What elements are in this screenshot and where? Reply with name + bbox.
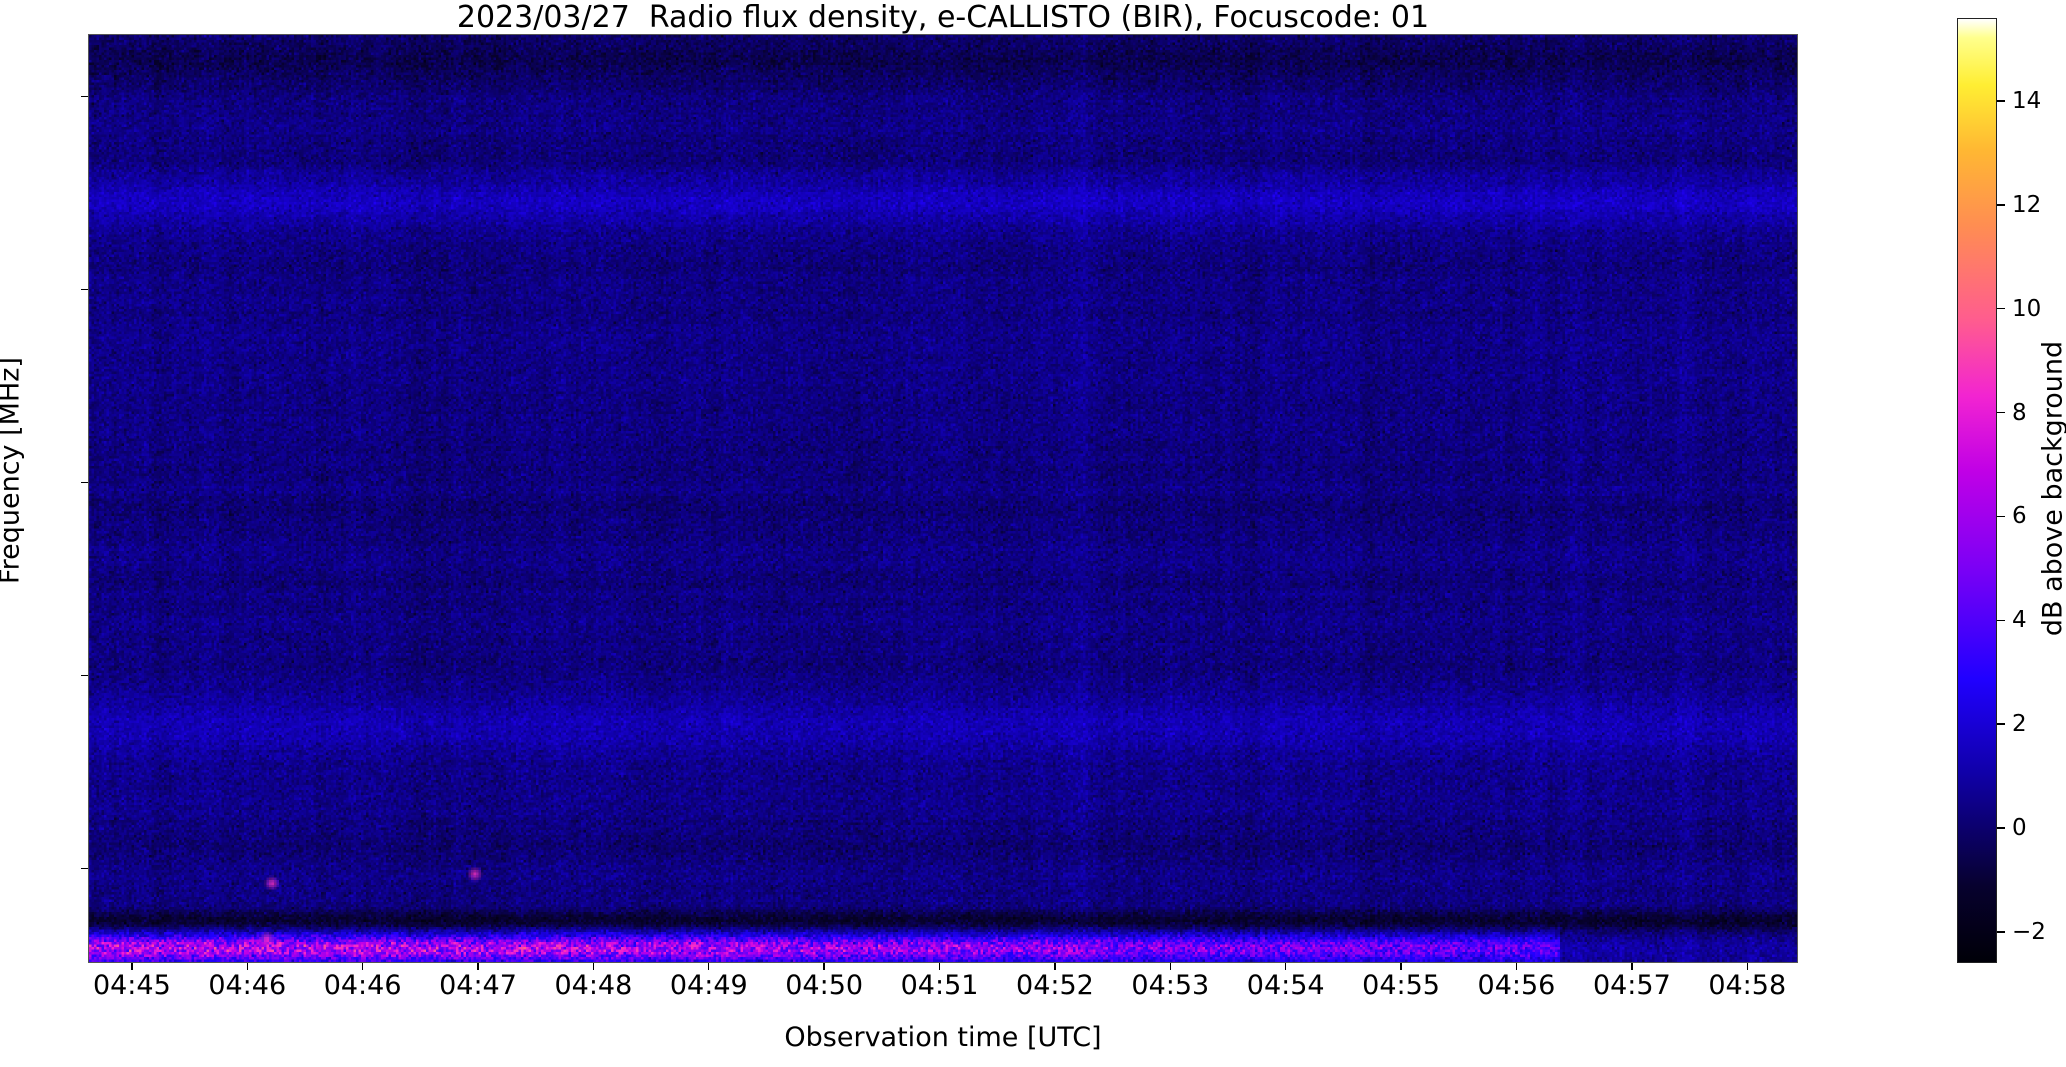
colorbar-tick-mark [1997,516,2005,517]
colorbar-tick-mark [1997,412,2005,413]
y-tick-mark [81,482,88,483]
colorbar-tick-mark [1997,308,2005,309]
x-tick-mark [823,963,824,970]
spectrogram-plot-area [88,34,1798,963]
colorbar [1957,18,1997,963]
x-tick-mark [1631,963,1632,970]
x-tick-mark [362,963,363,970]
x-tick-mark [1516,963,1517,970]
colorbar-tick-mark [1997,723,2005,724]
x-tick-mark [1285,963,1286,970]
x-tick-label: 04:58 [1667,972,1827,1000]
y-axis-label: Frequency [MHz] [0,121,26,821]
x-tick-mark [1747,963,1748,970]
spectrogram-image [89,35,1797,962]
x-tick-mark [131,963,132,970]
x-tick-mark [939,963,940,970]
colorbar-tick-mark [1997,204,2005,205]
y-tick-mark [81,289,88,290]
colorbar-tick-mark [1997,931,2005,932]
colorbar-tick-label: 14 [2012,90,2066,113]
colorbar-gradient [1958,19,1996,962]
colorbar-tick-mark [1997,827,2005,828]
y-tick-mark [81,868,88,869]
x-tick-mark [477,963,478,970]
colorbar-tick-label: 0 [2012,817,2066,840]
colorbar-tick-mark [1997,620,2005,621]
x-tick-mark [593,963,594,970]
page-title: 2023/03/27 Radio flux density, e-CALLIST… [88,2,1798,34]
x-tick-mark [1170,963,1171,970]
colorbar-axis-label: dB above background [2038,159,2066,819]
y-tick-mark [81,96,88,97]
x-tick-mark [247,963,248,970]
x-tick-mark [708,963,709,970]
x-axis-label: Observation time [UTC] [88,1022,1798,1053]
y-tick-mark [81,675,88,676]
colorbar-tick-mark [1997,100,2005,101]
x-tick-mark [1054,963,1055,970]
x-tick-mark [1400,963,1401,970]
colorbar-tick-label: −2 [2012,921,2066,944]
